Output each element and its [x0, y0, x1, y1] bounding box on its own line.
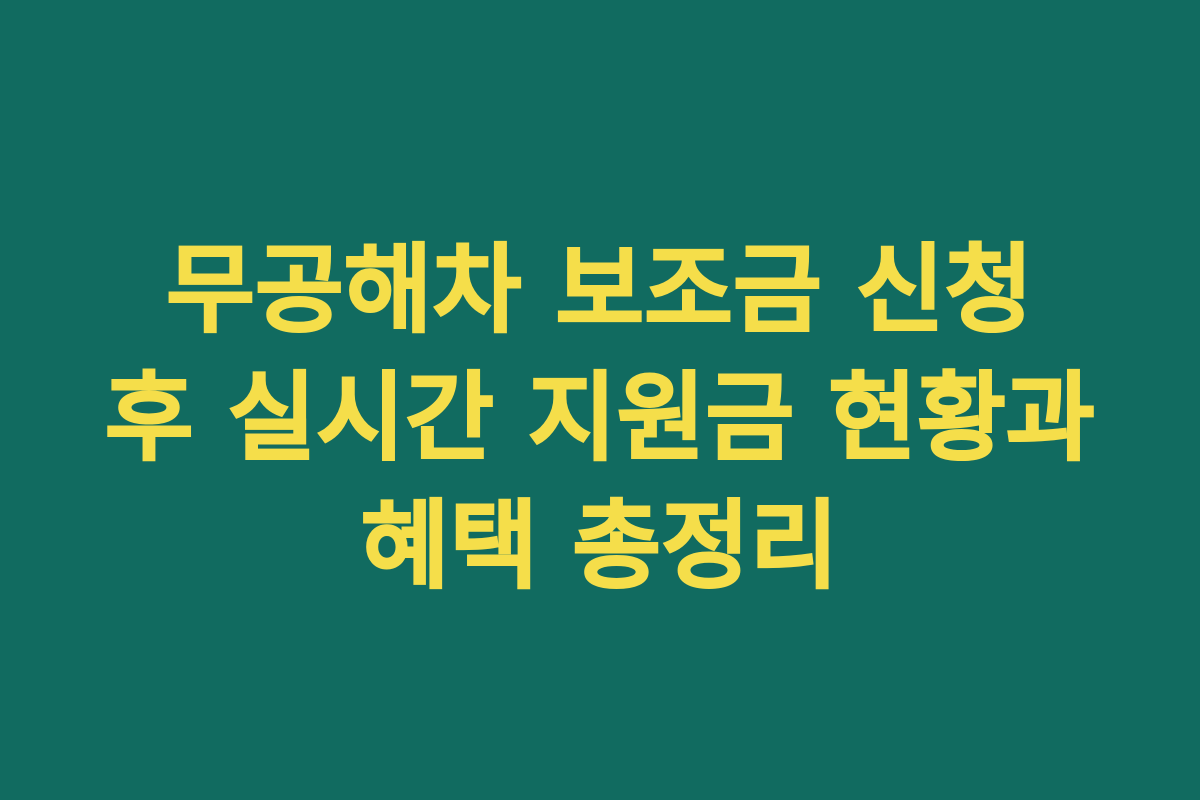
banner-canvas: 무공해차 보조금 신청 후 실시간 지원금 현황과 혜택 총정리 [0, 0, 1200, 800]
headline-line-3: 혜택 총정리 [30, 482, 1170, 610]
headline-line-1: 무공해차 보조금 신청 [30, 226, 1170, 354]
headline-line-2: 후 실시간 지원금 현황과 [30, 354, 1170, 482]
headline-block: 무공해차 보조금 신청 후 실시간 지원금 현황과 혜택 총정리 [30, 226, 1170, 610]
